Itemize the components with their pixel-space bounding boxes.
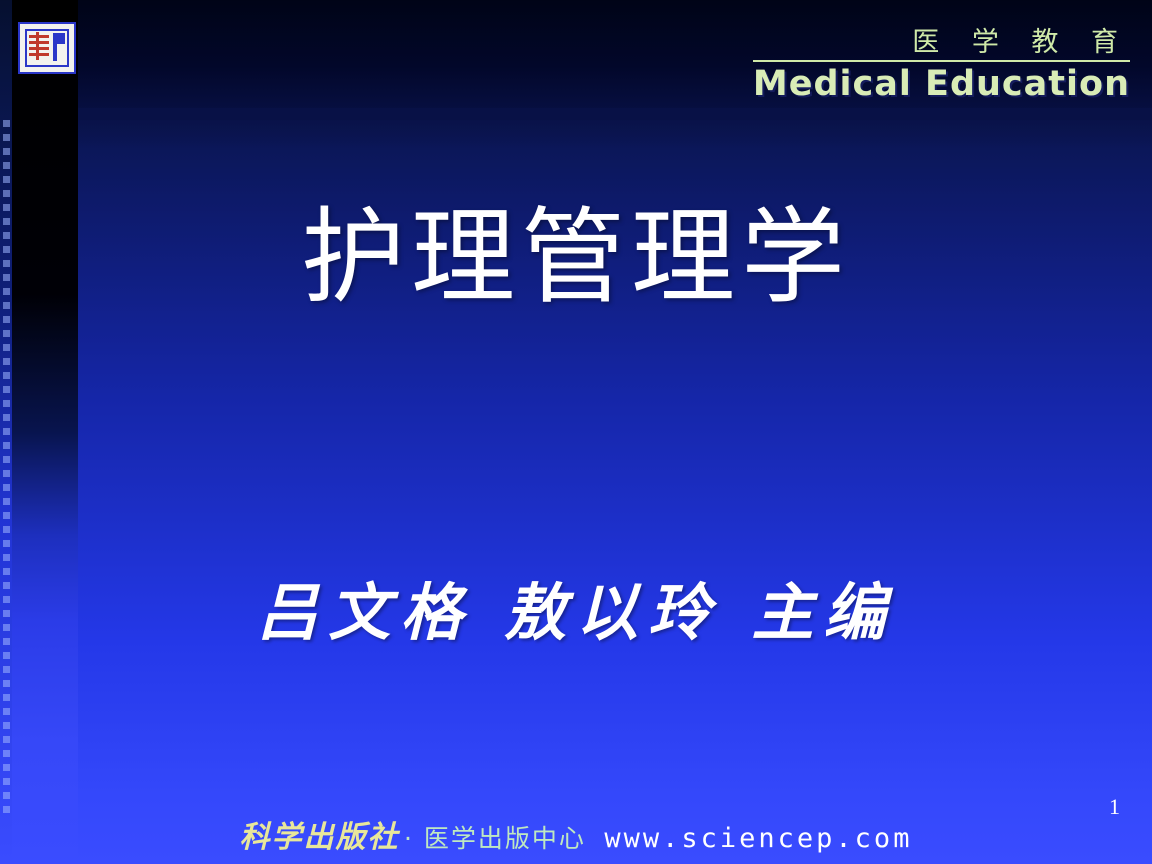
dash-mark [3, 344, 10, 351]
dash-mark [3, 456, 10, 463]
slide-canvas: 医 学 教 育 Medical Education 护理管理学 吕文格 敖以玲 … [0, 0, 1152, 864]
dash-mark [3, 428, 10, 435]
dash-mark [3, 736, 10, 743]
dash-mark [3, 722, 10, 729]
page-title: 护理管理学 [0, 198, 1152, 318]
brand-block: 医 学 教 育 Medical Education [753, 28, 1130, 103]
dash-mark [3, 554, 10, 561]
dash-mark [3, 148, 10, 155]
dash-mark [3, 442, 10, 449]
dash-mark [3, 694, 10, 701]
dash-mark [3, 134, 10, 141]
dash-mark [3, 358, 10, 365]
left-decorative-strip [0, 0, 78, 864]
footer-publisher-label: 科学出版社 [240, 820, 400, 855]
footer-bar: 科学出版社 · 医学出版中心 www.sciencep.com [0, 812, 1152, 856]
dash-mark [3, 470, 10, 477]
dash-mark [3, 792, 10, 799]
header-band-fade [0, 108, 1152, 148]
dash-mark [3, 778, 10, 785]
dash-mark [3, 484, 10, 491]
dash-mark [3, 540, 10, 547]
dash-mark [3, 652, 10, 659]
publisher-logo-icon [18, 22, 76, 74]
dash-mark [3, 120, 10, 127]
dash-mark [3, 680, 10, 687]
dash-mark [3, 498, 10, 505]
footer-center-label: · 医学出版中心 [404, 824, 586, 853]
dash-mark [3, 176, 10, 183]
dash-mark [3, 400, 10, 407]
dash-mark [3, 666, 10, 673]
dash-mark [3, 190, 10, 197]
dash-mark [3, 526, 10, 533]
footer-website-url: www.sciencep.com [604, 823, 912, 854]
brand-chinese-label: 医 学 教 育 [753, 28, 1130, 62]
authors-line: 吕文格 敖以玲 主编 [0, 562, 1152, 652]
dash-mark [3, 414, 10, 421]
dash-mark [3, 162, 10, 169]
brand-english-label: Medical Education [753, 65, 1130, 104]
dash-mark [3, 512, 10, 519]
dash-mark [3, 386, 10, 393]
dash-mark [3, 750, 10, 757]
dash-mark [3, 764, 10, 771]
dash-mark [3, 372, 10, 379]
dash-mark [3, 330, 10, 337]
slide-number: 1 [1109, 794, 1120, 820]
dash-mark [3, 708, 10, 715]
